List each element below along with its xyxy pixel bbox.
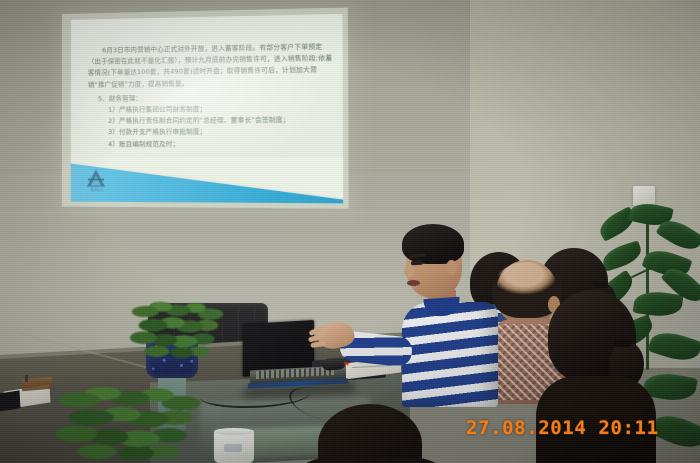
logo-caption: 集团标志 [86,188,108,192]
attendee-4-hairband [614,340,632,347]
slide-footer-band [71,157,343,203]
notebook-cover [0,390,20,411]
projected-slide: 6月3日市内营销中心正式对外开放，进入蓄客阶段。有部分客户下单预定（出于保密在此… [62,7,349,208]
slide-text-block: 6月3日市内营销中心正式对外开放，进入蓄客阶段。有部分客户下单预定（出于保密在此… [88,41,334,150]
mouse-led-icon [344,362,349,365]
speaker-eye [411,261,423,266]
conference-room-photo: 6月3日市内营销中心正式对外开放，进入蓄客阶段。有部分客户下单预定（出于保密在此… [0,0,700,463]
speaker-nose [404,266,414,277]
speaker-ear [446,260,457,275]
ficus-leaf-10 [647,327,700,366]
logo-crossbar [88,179,104,181]
attendee-foreground [300,400,440,463]
attendee-foreground-shoulder [286,458,456,463]
foliage-leaves [128,298,224,360]
camera-timestamp: 27.08.2014 20:11 [466,417,659,439]
slide-surface: 6月3日市内营销中心正式对外开放，进入蓄客阶段。有部分客户下单预定（出于保密在此… [71,14,343,203]
speaker-striped-polo [402,302,498,407]
foreground-foliage-leaves [52,382,202,463]
table-plant-foliage [128,298,224,360]
slide-list-item-4: 4）账目编制规范及时； [88,138,334,150]
company-logo-icon: 集团标志 [87,169,107,191]
logo-inner-triangle [91,175,101,185]
slide-list-item-3: 3）付款开支严格执行审批制度； [88,126,334,139]
attendee-foreground-head [318,404,422,463]
speaker-hair [402,224,464,264]
presenting-man [388,222,508,402]
attendee-3-hairband [594,282,608,288]
mug-rim [214,428,254,435]
mug-decoration [224,444,242,452]
speaker-mouth [407,280,420,286]
wall-seam [0,212,520,214]
foreground-plant [52,382,202,463]
slide-paragraph: 6月3日市内营销中心正式对外开放，进入蓄客阶段。有部分客户下单预定（出于保密在此… [88,41,334,90]
speaker-finger-3 [310,341,326,348]
